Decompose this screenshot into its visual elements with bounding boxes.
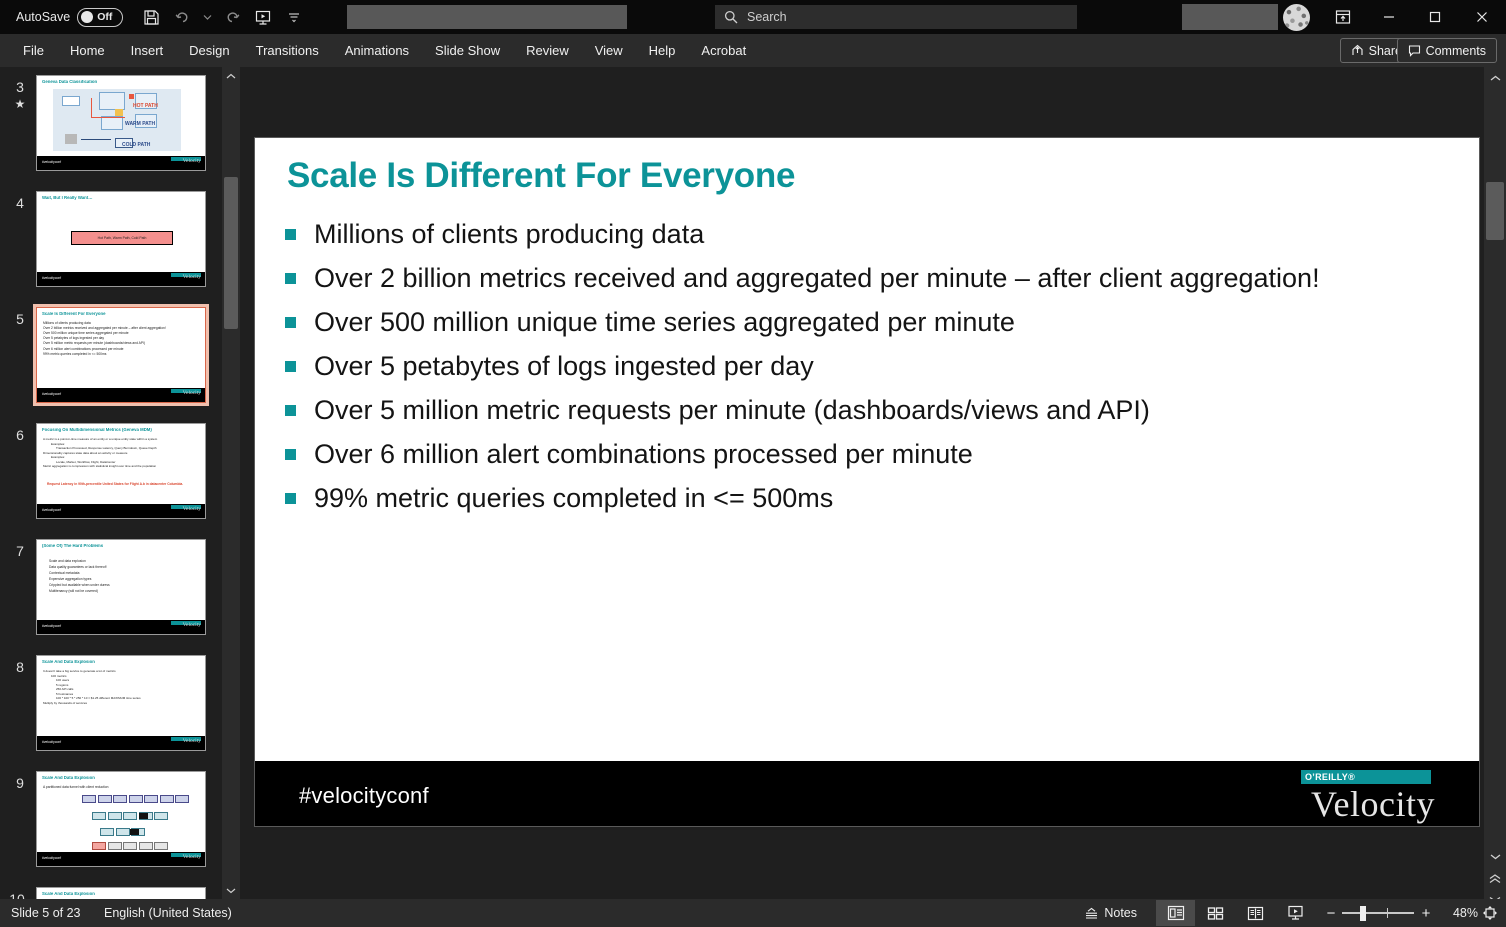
normal-view-icon [1167,905,1185,921]
fit-slide-to-window-icon [1482,905,1498,921]
velocity-logo: Velocity [1311,783,1435,825]
thumbnail-number: 6 [8,427,32,443]
minimize-button[interactable] [1366,0,1412,34]
title-bar: AutoSave Off Search [0,0,1506,34]
thumbnail-scrollbar-thumb[interactable] [224,177,238,329]
thumbnail-footer: #velocityconf Velocity [37,272,205,286]
bullet-square-icon [285,273,296,284]
thumbnail-slide-5[interactable]: 5 Scale Is Different For Everyone Millio… [0,307,222,423]
thumbnail-footer-logo: Velocity [183,738,201,744]
slide-bullet-item: Over 2 billion metrics received and aggr… [285,262,1465,295]
thumbnail-footer: #velocityconf Velocity [37,388,205,402]
reading-view-button[interactable] [1236,900,1275,926]
thumbnail-number: 10 [2,891,32,899]
thumbnail-slide-3[interactable]: 3 ★ Geneva Data Classification HOT PATH … [0,75,222,191]
tab-home[interactable]: Home [57,34,118,67]
slide-bullet-item: Over 5 petabytes of logs ingested per da… [285,350,1465,383]
thumbnail-slide-9[interactable]: 9 Scale And Data Explosion A partitioned… [0,771,222,887]
thumbnail-footer-logo: Velocity [183,854,201,860]
document-title-redacted [347,5,627,29]
thumbnail-footer-logo: Velocity [183,158,201,164]
thumbnail-body: A partitioned data funnel with client re… [43,785,201,790]
slide-body-placeholder[interactable]: Millions of clients producing data Over … [285,218,1465,526]
notes-button[interactable]: Notes [1077,900,1144,926]
current-slide[interactable]: Scale Is Different For Everyone Millions… [254,137,1480,827]
slide-show-icon [1287,905,1304,921]
search-box[interactable]: Search [715,5,1077,29]
undo-dropdown-button[interactable] [199,4,215,30]
thumbnail-footer-logo: Velocity [183,506,201,512]
slide-title[interactable]: Scale Is Different For Everyone [287,156,1459,196]
tab-slide-show[interactable]: Slide Show [422,34,513,67]
thumbnail-title: (Some Of) The Hard Problems [42,544,201,549]
thumbnail-title: Geneva Data Classification [42,80,201,85]
chevron-down-icon [1490,853,1501,860]
thumbnail-footer-hashtag: #velocityconf [42,392,61,396]
close-icon [1475,10,1489,24]
ribbon-display-options-icon [1335,9,1351,25]
thumbnail-number: 4 [8,195,32,211]
slide-scrollbar-thumb[interactable] [1486,182,1504,240]
thumbnail-footer: #velocityconf Velocity [37,504,205,518]
previous-slide-button[interactable] [1484,868,1506,890]
tab-acrobat[interactable]: Acrobat [688,34,759,67]
thumbnail-footer-logo: Velocity [183,274,201,280]
thumbnail-image[interactable]: Geneva Data Classification HOT PATH WARM… [36,75,206,171]
notes-label: Notes [1104,906,1137,920]
thumbnail-title: Scale And Data Explosion [42,776,201,781]
bullet-square-icon [285,361,296,372]
tab-insert[interactable]: Insert [118,34,177,67]
language-indicator[interactable]: English (United States) [104,906,232,920]
bullet-square-icon [285,493,296,504]
thumbnail-image[interactable]: Scale And Data Explosion A partitioned d… [36,771,206,867]
slide-footer-hashtag: #velocityconf [299,783,429,809]
minimize-icon [1382,10,1396,24]
zoom-out-button[interactable]: − [1319,900,1343,926]
thumbnail-image[interactable]: (Some Of) The Hard Problems Scale and da… [36,539,206,635]
thumbnail-image[interactable]: Wait, But I Really Want… Hot Path, Warm … [36,191,206,287]
comments-button[interactable]: Comments [1397,38,1497,63]
undo-button[interactable] [168,4,197,30]
slide-bullet-text: 99% metric queries completed in <= 500ms [314,482,833,515]
autosave-state: Off [97,11,112,23]
comments-label: Comments [1426,44,1486,58]
account-name-redacted [1182,4,1278,30]
slide-bullet-text: Millions of clients producing data [314,218,704,251]
zoom-slider-track[interactable] [1342,912,1414,914]
chevron-down-icon [226,887,236,894]
thumbnail-number: 9 [8,775,32,791]
thumbnail-footer-hashtag: #velocityconf [42,508,61,512]
bullet-square-icon [285,317,296,328]
zoom-slider-handle[interactable] [1360,906,1366,921]
slide-bullet-item: 99% metric queries completed in <= 500ms [285,482,1465,515]
thumbnail-slide-8[interactable]: 8 Scale And Data Explosion It doesn't ta… [0,655,222,771]
status-bar: Slide 5 of 23 English (United States) No… [0,899,1506,927]
tab-design[interactable]: Design [176,34,242,67]
slide-sorter-button[interactable] [1196,900,1235,926]
tab-help[interactable]: Help [636,34,689,67]
chevron-up-icon [1490,75,1501,82]
thumbnail-label-hot-path: HOT PATH [133,103,158,109]
quick-access-toolbar [137,4,308,30]
thumbnail-label-cold-path: COLD PATH [122,142,150,148]
thumbnail-footer: #velocityconf Velocity [37,852,205,866]
thumbnail-number: 7 [8,543,32,559]
thumbnail-bullet: Multiply by thousands of services [43,701,201,706]
avatar[interactable] [1283,4,1310,31]
thumbnail-number: 8 [8,659,32,675]
slide-bullet-item: Over 500 million unique time series aggr… [285,306,1465,339]
autosave-switch[interactable]: Off [77,8,123,27]
thumbnail-bullet: A partitioned data funnel with client re… [43,785,201,790]
thumbnail-footer-hashtag: #velocityconf [42,624,61,628]
fit-slide-to-window-button[interactable] [1478,901,1502,925]
animation-star-icon: ★ [8,97,32,111]
autosave-toggle[interactable]: AutoSave Off [16,8,123,27]
maximize-button[interactable] [1412,0,1458,34]
thumbnail-body: A metric is a point-in-time measure of a… [43,437,201,469]
slide-counter[interactable]: Slide 5 of 23 [11,906,81,920]
bullet-square-icon [285,229,296,240]
maximize-icon [1428,10,1442,24]
thumbnail-slide-4[interactable]: 4 Wait, But I Really Want… Hot Path, War… [0,191,222,307]
thumbnail-body: It doesn't take a big service to generat… [43,669,201,705]
tab-transitions[interactable]: Transitions [243,34,332,67]
thumbnail-image[interactable]: Scale And Data Explosion [36,887,206,899]
tab-view[interactable]: View [582,34,636,67]
redo-button[interactable] [217,4,246,30]
save-button[interactable] [137,4,166,30]
slide-bullet-item: Over 6 million alert combinations proces… [285,438,1465,471]
notes-icon [1084,907,1099,920]
thumbnail-footer-hashtag: #velocityconf [42,740,61,744]
thumbnail-number: 5 [8,311,32,327]
thumbnail-footer-hashtag: #velocityconf [42,856,61,860]
thumbnail-scroll-down-button[interactable] [222,881,240,899]
normal-view-button[interactable] [1156,900,1195,926]
share-icon [1351,44,1364,57]
search-placeholder: Search [747,10,787,24]
slide-vertical-scrollbar[interactable] [1484,67,1506,899]
thumbnail-title: Wait, But I Really Want… [42,196,201,201]
thumbnail-body: Millions of clients producing data Over … [43,321,201,357]
thumbnail-footer-logo: Velocity [183,390,201,396]
autosave-knob [81,11,93,23]
thumbnail-footer-hashtag: #velocityconf [42,160,61,164]
slide-scroll-up-button[interactable] [1484,67,1506,89]
thumbnail-number: 3 [8,79,32,95]
oreilly-badge: O’REILLY® [1301,770,1431,784]
tab-review[interactable]: Review [513,34,582,67]
thumbnail-scroll-up-button[interactable] [222,67,240,85]
thumbnail-bullet: Metric aggregation is compression with s… [43,464,201,469]
comment-icon [1408,44,1421,57]
slide-bullet-text: Over 2 billion metrics received and aggr… [314,262,1320,295]
thumbnail-footer-hashtag: #velocityconf [42,276,61,280]
zoom-slider-midpoint [1387,908,1388,918]
thumbnail-highlight: Request Latency in 90th-percentile Unite… [47,482,199,486]
thumbnail-title: Scale Is Different For Everyone [42,312,201,317]
slide-editing-area: Scale Is Different For Everyone Millions… [240,67,1480,899]
thumbnail-body: Scale and data explosion Data quality gu… [49,558,201,595]
avatar-image [1283,4,1310,31]
slide-bullet-item: Over 5 million metric requests per minut… [285,394,1465,427]
start-presentation-button[interactable] [248,4,277,30]
thumbnail-banner: Hot Path, Warm Path, Cold Path [71,231,173,245]
slide-show-button[interactable] [1276,900,1315,926]
thumbnail-footer: #velocityconf Velocity [37,620,205,634]
thumbnail-title: Scale And Data Explosion [42,892,201,897]
chevron-up-icon [226,73,236,80]
zoom-in-button[interactable]: + [1414,900,1438,926]
thumbnail-image-selected[interactable]: Scale Is Different For Everyone Millions… [36,307,206,403]
thumbnail-slide-7[interactable]: 7 (Some Of) The Hard Problems Scale and … [0,539,222,655]
thumbnail-label-warm-path: WARM PATH [125,121,155,127]
slide-bullet-text: Over 500 million unique time series aggr… [314,306,1015,339]
thumbnail-slide-6[interactable]: 6 Focusing On Multidimensional Metrics (… [0,423,222,539]
slide-bullet-text: Over 6 million alert combinations proces… [314,438,973,471]
tab-file[interactable]: File [10,34,57,67]
slide-footer: #velocityconf O’REILLY® Velocity [255,761,1479,826]
close-button[interactable] [1458,0,1506,34]
autosave-label: AutoSave [16,10,70,24]
search-icon [724,10,738,24]
thumbnail-footer: #velocityconf Velocity [37,156,205,170]
customize-quick-access-toolbar-button[interactable] [279,4,308,30]
double-chevron-up-icon [1489,874,1501,884]
thumbnail-image[interactable]: Scale And Data Explosion It doesn't take… [36,655,206,751]
thumbnail-footer: #velocityconf Velocity [37,736,205,750]
slide-thumbnail-pane[interactable]: 3 ★ Geneva Data Classification HOT PATH … [0,67,222,899]
thumbnail-title: Scale And Data Explosion [42,660,201,665]
zoom-percentage[interactable]: 48% [1453,906,1478,920]
thumbnail-slide-10[interactable]: 10 Scale And Data Explosion [0,887,222,899]
thumbnail-bullet: 99% metric queries completed in <= 500ms [43,352,201,357]
slide-scroll-down-button[interactable] [1484,845,1506,867]
tab-animations[interactable]: Animations [332,34,422,67]
slide-bullet-item: Millions of clients producing data [285,218,1465,251]
thumbnail-footer-logo: Velocity [183,622,201,628]
slide-bullet-text: Over 5 million metric requests per minut… [314,394,1150,427]
slide-bullet-text: Over 5 petabytes of logs ingested per da… [314,350,814,383]
thumbnail-title: Focusing On Multidimensional Metrics (Ge… [42,428,201,433]
thumbnail-bullet: Multitenancy (will not be covered) [49,588,201,594]
ribbon-display-options-button[interactable] [1320,0,1366,34]
thumbnail-pane-scrollbar[interactable] [222,67,240,899]
reading-view-icon [1247,906,1264,921]
bullet-square-icon [285,405,296,416]
slide-sorter-icon [1207,906,1224,921]
thumbnail-image[interactable]: Focusing On Multidimensional Metrics (Ge… [36,423,206,519]
bullet-square-icon [285,449,296,460]
ribbon-tab-bar: File Home Insert Design Transitions Anim… [0,34,1506,67]
